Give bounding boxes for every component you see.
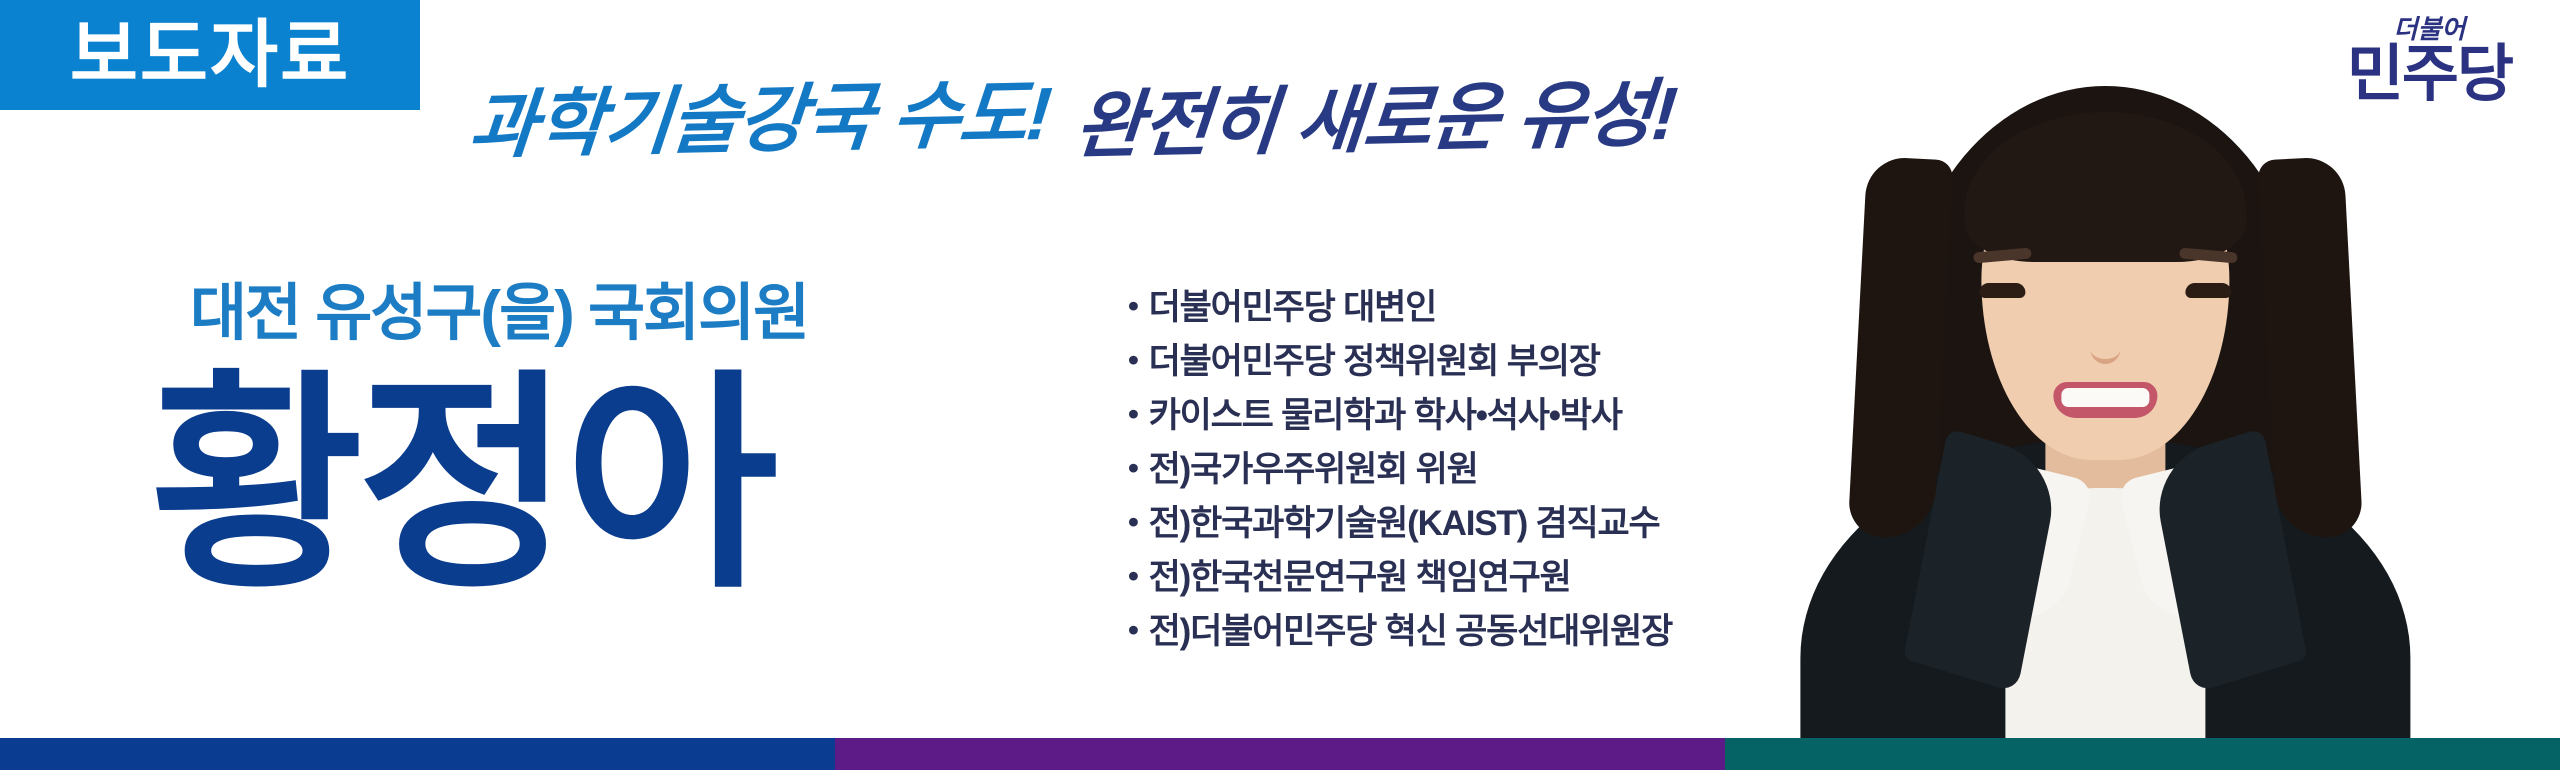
teeth	[2061, 388, 2149, 407]
party-logo-top-text: 더불어	[2347, 16, 2512, 42]
list-item: • 전)한국천문연구원 책임연구원	[1128, 560, 1748, 595]
tagline-part-one: 과학기술강국 수도!	[466, 77, 1053, 163]
tagline-part-two: 완전히 새로운 유성!	[1072, 77, 1679, 164]
credential-text: 전)더불어민주당 혁신 공동선대위원장	[1149, 614, 1673, 649]
portrait-figure	[1795, 38, 2415, 738]
district-office-line: 대전 유성구(을) 국회의원	[190, 283, 808, 345]
nose	[2090, 330, 2120, 364]
list-item: • 카이스트 물리학과 학사•석사•박사	[1128, 398, 1748, 433]
eye-right	[2185, 283, 2231, 298]
bullet-icon: •	[1128, 398, 1138, 429]
list-item: • 전)더불어민주당 혁신 공동선대위원장	[1128, 614, 1748, 649]
party-logo-main-text: 민주당	[2347, 44, 2512, 106]
credential-text: 더불어민주당 대변인	[1149, 290, 1437, 325]
credential-text: 카이스트 물리학과 학사•석사•박사	[1149, 398, 1622, 433]
candidate-photo	[1750, 0, 2560, 738]
bullet-icon: •	[1128, 290, 1138, 321]
bullet-icon: •	[1128, 452, 1138, 483]
candidate-name: 황정아	[150, 370, 772, 602]
list-item: • 더불어민주당 대변인	[1128, 290, 1748, 325]
campaign-tagline: 과학기술강국 수도! 완전히 새로운 유성!	[470, 62, 1770, 157]
credential-text: 더불어민주당 정책위원회 부의장	[1149, 344, 1600, 379]
credential-text: 전)국가우주위원회 위원	[1149, 452, 1478, 487]
bar-segment-teal	[1725, 738, 2560, 770]
party-logo: 더불어 민주당	[2347, 16, 2512, 106]
list-item: • 전)국가우주위원회 위원	[1128, 452, 1748, 487]
bullet-icon: •	[1128, 614, 1138, 645]
list-item: • 더불어민주당 정책위원회 부의장	[1128, 344, 1748, 379]
press-release-badge: 보도자료	[0, 0, 420, 110]
bullet-icon: •	[1128, 344, 1138, 375]
mouth	[2053, 382, 2157, 418]
credential-text: 전)한국과학기술원(KAIST) 겸직교수	[1149, 506, 1660, 541]
credentials-list: • 더불어민주당 대변인 • 더불어민주당 정책위원회 부의장 • 카이스트 물…	[1128, 290, 1748, 668]
bullet-icon: •	[1128, 560, 1138, 591]
press-release-banner: 보도자료 과학기술강국 수도! 완전히 새로운 유성! 대전 유성구(을) 국회…	[0, 0, 2560, 770]
credential-text: 전)한국천문연구원 책임연구원	[1149, 560, 1571, 595]
bullet-icon: •	[1128, 506, 1138, 537]
eye-left	[1979, 283, 2025, 298]
bar-segment-purple	[835, 738, 1725, 770]
bottom-color-bar	[0, 738, 2560, 770]
bar-segment-navy	[0, 738, 835, 770]
list-item: • 전)한국과학기술원(KAIST) 겸직교수	[1128, 506, 1748, 541]
press-release-badge-label: 보도자료	[70, 18, 350, 92]
